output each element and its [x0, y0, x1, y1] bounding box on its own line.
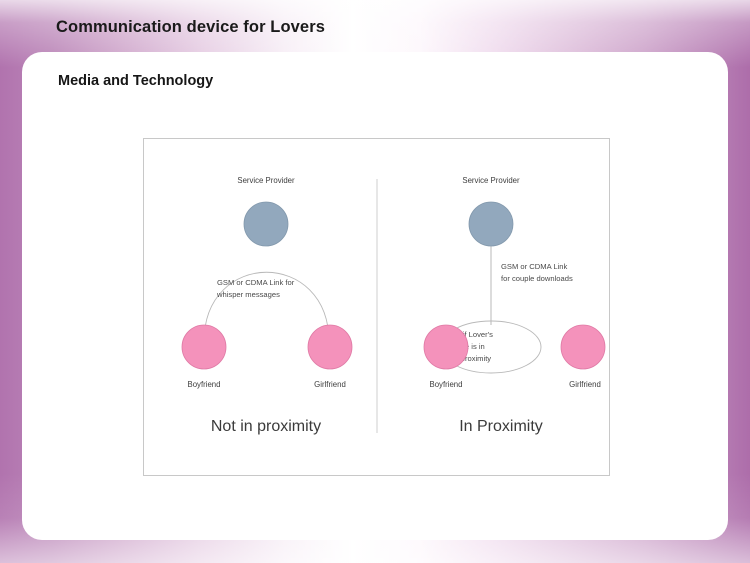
proximity-diagram: Service Provider GSM or CDMA Link for wh…	[144, 139, 609, 475]
section-heading: Media and Technology	[58, 73, 213, 89]
caption-not-in-proximity: Not in proximity	[211, 418, 321, 435]
page-title: Communication device for Lovers	[56, 18, 325, 37]
service-provider-label-left: Service Provider	[237, 176, 295, 185]
diagram-container: Service Provider GSM or CDMA Link for wh…	[143, 138, 610, 476]
boyfriend-label-right: Boyfriend	[430, 380, 463, 389]
content-panel: Media and Technology Service Provider GS…	[22, 52, 728, 540]
slide: Communication device for Lovers Media an…	[0, 0, 750, 563]
service-provider-node-left	[244, 202, 288, 246]
boyfriend-label-left: Boyfriend	[188, 380, 221, 389]
caption-in-proximity: In Proximity	[459, 418, 543, 435]
gsm-link-label-right-line1: GSM or CDMA Link	[501, 262, 567, 271]
gsm-link-label-left-line1: GSM or CDMA Link for	[217, 278, 295, 287]
boyfriend-node-right	[424, 325, 468, 369]
girlfriend-node-right	[561, 325, 605, 369]
boyfriend-node-left	[182, 325, 226, 369]
service-provider-node-right	[469, 202, 513, 246]
gsm-link-label-right-line2: for couple downloads	[501, 274, 573, 283]
service-provider-label-right: Service Provider	[462, 176, 520, 185]
gsm-link-label-left-line2: whisper messages	[216, 290, 280, 299]
girlfriend-label-right: Girlfriend	[569, 380, 601, 389]
girlfriend-label-left: Girlfriend	[314, 380, 346, 389]
girlfriend-node-left	[308, 325, 352, 369]
